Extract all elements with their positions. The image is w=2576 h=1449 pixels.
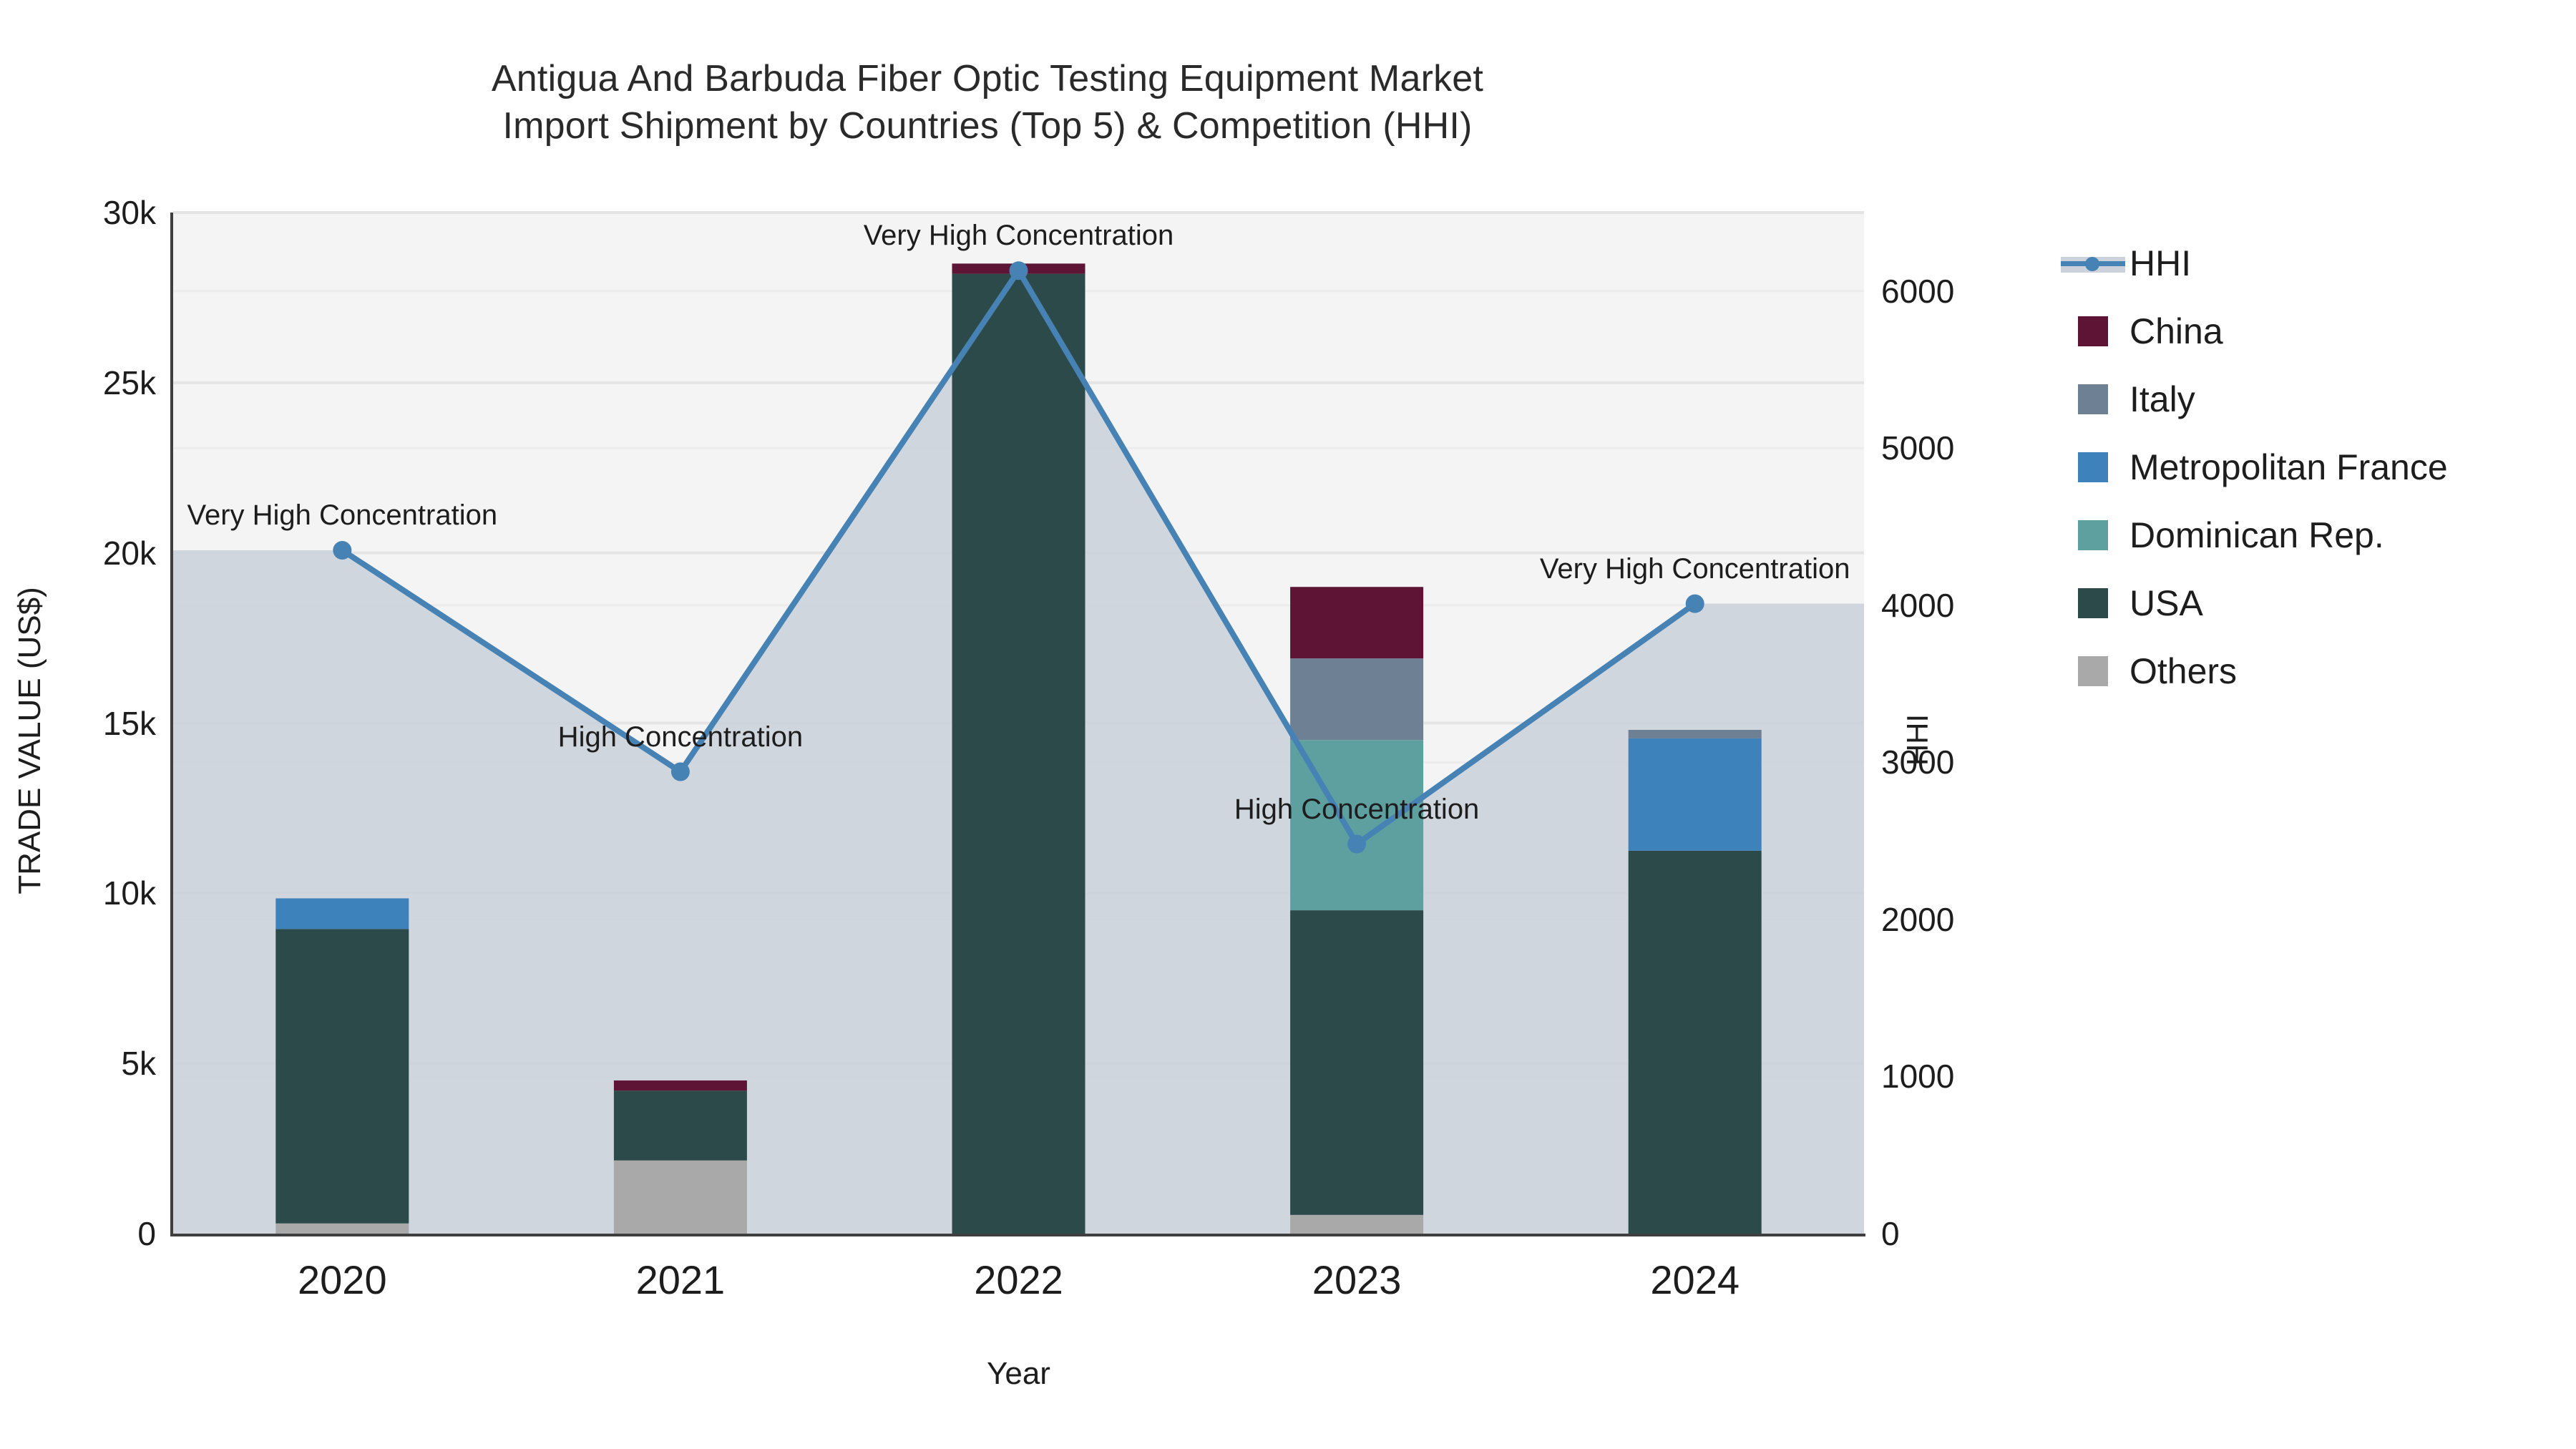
hhi-marker	[1010, 261, 1028, 280]
y-axis-right-title: HHI	[1901, 597, 1935, 883]
bar-segment	[1290, 910, 1423, 1215]
y-axis-left-tick-label: 30k	[0, 193, 156, 232]
legend-line-dot	[2085, 257, 2099, 271]
bar-segment	[952, 274, 1085, 1234]
plot-svg	[173, 213, 1864, 1234]
bar-segment	[275, 929, 409, 1223]
legend-item-label: Italy	[2129, 379, 2195, 420]
legend-item-italy[interactable]: Italy	[2061, 365, 2562, 433]
plot-area	[173, 213, 1864, 1234]
x-axis-tick-label: 2022	[974, 1257, 1063, 1303]
x-axis-tick-label: 2021	[636, 1257, 726, 1303]
legend-color-swatch	[2078, 452, 2108, 482]
x-axis-tick-label: 2023	[1312, 1257, 1402, 1303]
hhi-marker	[333, 541, 351, 560]
bar-segment	[1290, 587, 1423, 658]
x-axis-line	[173, 1234, 1865, 1236]
bar-segment	[1290, 1215, 1423, 1234]
hhi-marker	[1347, 835, 1366, 854]
legend-item-label: Dominican Rep.	[2129, 514, 2384, 556]
bar-segment	[1629, 738, 1762, 851]
y-axis-left-tick-label: 5k	[0, 1044, 156, 1083]
hhi-marker	[1686, 595, 1704, 613]
legend-item-hhi[interactable]: HHI	[2061, 229, 2562, 297]
bar-segment	[275, 898, 409, 929]
bar-segment	[614, 1091, 747, 1161]
chart-title: Antigua And Barbuda Fiber Optic Testing …	[0, 56, 1975, 150]
legend-color-swatch	[2078, 384, 2108, 414]
y-axis-right-tick-label: 0	[1881, 1214, 1900, 1253]
y-axis-right-tick-label: 1000	[1881, 1057, 1954, 1096]
concentration-annotation: Very High Concentration	[187, 499, 498, 532]
legend-color-swatch	[2078, 316, 2108, 346]
legend-color-swatch	[2078, 656, 2108, 686]
bar-segment	[614, 1161, 747, 1234]
bar-segment	[1629, 730, 1762, 738]
x-axis-tick-label: 2024	[1650, 1257, 1740, 1303]
y-axis-right-tick-label: 2000	[1881, 900, 1954, 939]
y-axis-left-tick-label: 0	[0, 1214, 156, 1253]
x-axis-tick-label: 2020	[298, 1257, 387, 1303]
legend-line-marker-icon	[2061, 248, 2125, 278]
legend-item-metropolitan-france[interactable]: Metropolitan France	[2061, 433, 2562, 501]
chart-figure: Antigua And Barbuda Fiber Optic Testing …	[0, 0, 2576, 1449]
y-axis-right-tick-label: 5000	[1881, 429, 1954, 467]
legend-item-label: China	[2129, 311, 2223, 352]
y-axis-left-tick-label: 25k	[0, 364, 156, 402]
y-axis-right-tick-label: 6000	[1881, 272, 1954, 311]
legend-color-swatch	[2078, 520, 2108, 550]
y-axis-left-line	[170, 213, 173, 1236]
concentration-annotation: High Concentration	[558, 721, 803, 753]
y-axis-left-title: TRADE VALUE (US$)	[12, 454, 48, 1027]
x-axis-title: Year	[173, 1356, 1864, 1392]
bar-segment	[614, 1080, 747, 1091]
bar-segment	[1290, 658, 1423, 740]
concentration-annotation: Very High Concentration	[1540, 553, 1850, 585]
concentration-annotation: High Concentration	[1234, 794, 1479, 826]
hhi-marker	[671, 763, 690, 781]
legend-item-china[interactable]: China	[2061, 297, 2562, 365]
legend-item-label: HHI	[2129, 243, 2191, 284]
legend-color-swatch	[2078, 588, 2108, 618]
bar-segment	[275, 1224, 409, 1234]
legend-item-label: Metropolitan France	[2129, 447, 2448, 488]
bar-segment	[1629, 851, 1762, 1234]
legend: HHIChinaItalyMetropolitan FranceDominica…	[2061, 229, 2562, 705]
legend-item-dominican-rep[interactable]: Dominican Rep.	[2061, 501, 2562, 569]
legend-item-label: Others	[2129, 650, 2237, 692]
legend-item-usa[interactable]: USA	[2061, 569, 2562, 637]
concentration-annotation: Very High Concentration	[864, 220, 1174, 252]
legend-item-label: USA	[2129, 582, 2203, 624]
legend-item-others[interactable]: Others	[2061, 637, 2562, 705]
